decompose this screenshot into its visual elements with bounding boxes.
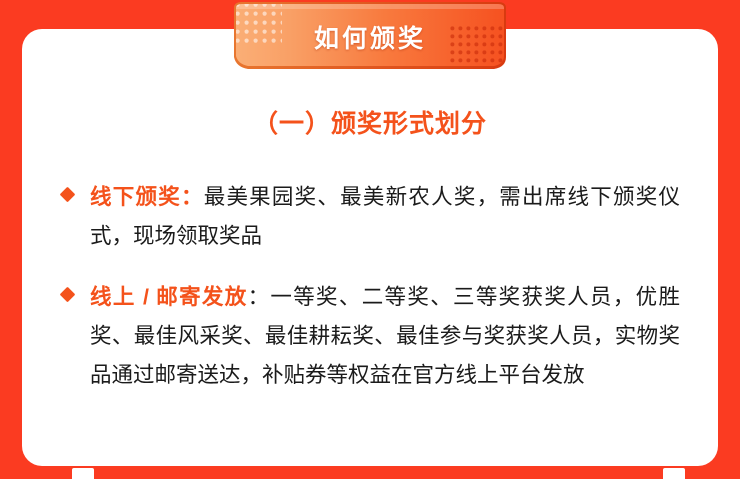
- bullet-lead: 线下颁奖：: [90, 185, 204, 209]
- bullet-lead: 线上 / 邮寄发放: [90, 285, 248, 309]
- diamond-icon: [60, 187, 76, 203]
- diamond-icon: [60, 287, 76, 303]
- bullet-list: 线下颁奖：最美果园奖、最美新农人奖，需出席线下颁奖仪式，现场领取奖品 线上 / …: [56, 178, 680, 395]
- section-heading: （一）颁奖形式划分: [0, 104, 740, 140]
- list-item: 线上 / 邮寄发放：一等奖、二等奖、三等奖获奖人员，优胜奖、最佳风采奖、最佳耕耘…: [56, 278, 680, 395]
- next-section-tab-right: [663, 468, 685, 479]
- next-section-tab-left: [72, 468, 94, 479]
- ribbon-title: 如何颁奖: [226, 2, 514, 70]
- poster-canvas: 如何颁奖 （一）颁奖形式划分 线下颁奖：最美果园奖、最美新农人奖，需出席线下颁奖…: [0, 0, 740, 479]
- bullet-text: 线上 / 邮寄发放：一等奖、二等奖、三等奖获奖人员，优胜奖、最佳风采奖、最佳耕耘…: [90, 278, 680, 395]
- bullet-text: 线下颁奖：最美果园奖、最美新农人奖，需出席线下颁奖仪式，现场领取奖品: [90, 178, 680, 256]
- ribbon-banner: 如何颁奖: [226, 2, 514, 70]
- list-item: 线下颁奖：最美果园奖、最美新农人奖，需出席线下颁奖仪式，现场领取奖品: [56, 178, 680, 256]
